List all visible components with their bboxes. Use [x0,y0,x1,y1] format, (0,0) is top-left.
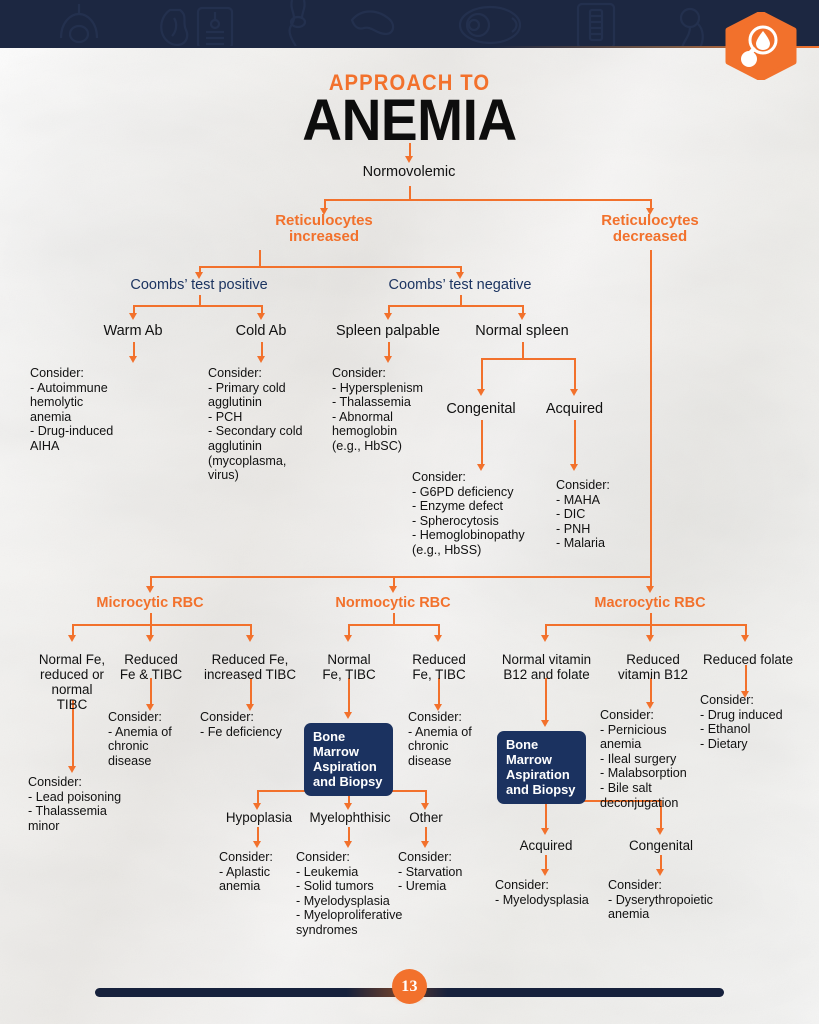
node-coombs-test-negative: Coombs’ test negative [370,277,550,293]
header-bottom-hairline [0,46,819,48]
consider-cold-ab: Consider: - Primary cold agglutinin - PC… [208,366,333,483]
node-hypoplasia: Hypoplasia [213,810,305,826]
node-cold-ab: Cold Ab [201,324,321,340]
kidney-icon [161,10,187,45]
consider-other: Consider: - Starvation - Uremia [398,850,498,894]
node-myelophthisic: Myelophthisic [300,810,400,826]
consider-acquired-marrow: Consider: - Myelodysplasia [495,878,615,907]
header-decor-icons [0,0,819,48]
node-macro-reduced-b12: Reduced vitamin B12 [608,652,698,682]
chest-xray-icon [198,8,232,48]
page-title: ANEMIA [20,92,798,150]
consider-acquired-hemolytic: Consider: - MAHA - DIC - PNH - Malaria [556,478,666,551]
consider-spleen-palpable: Consider: - Hypersplenism - Thalassemia … [332,366,457,454]
node-other: Other [395,810,457,826]
page-number-badge: 13 [392,969,427,1004]
node-macro-reduced-folate: Reduced folate [693,652,803,667]
node-normo-normal-fe-tibc: Normal Fe, TIBC [310,652,388,682]
eye-anatomy-icon [460,7,520,43]
consider-warm-ab: Consider: - Autoimmune hemolytic anemia … [30,366,150,454]
spine-xray-icon [578,4,614,48]
page-header [0,0,819,48]
pancreas-icon [352,12,393,35]
consider-congenital-marrow: Consider: - Dyserythropoietic anemia [608,878,748,922]
node-micro-reduced-fe-tibc: Reduced Fe & TIBC [112,652,190,682]
node-normal-spleen: Normal spleen [457,324,587,340]
node-coombs-test-positive: Coombs’ test positive [109,277,289,293]
uterus-icon [61,4,97,42]
consider-hypoplasia: Consider: - Aplastic anemia [219,850,305,894]
node-warm-ab: Warm Ab [73,324,193,340]
node-normovolemic: Normovolemic [329,165,489,181]
consider-macro-reduced-folate: Consider: - Drug induced - Ethanol - Die… [700,693,815,751]
node-macro-normal-b12-folate: Normal vitamin B12 and folate [489,652,604,682]
consider-congenital-hemolytic: Consider: - G6PD deficiency - Enzyme def… [412,470,577,558]
node-microcytic-rbc: Microcytic RBC [80,595,220,611]
node-acquired-marrow: Acquired [500,838,592,854]
knee-joint-icon [290,0,305,48]
node-macrocytic-rbc: Macrocytic RBC [580,595,720,611]
node-reticulocytes-increased: Reticulocytes increased [254,213,394,245]
node-reticulocytes-decreased: Reticulocytes decreased [580,213,720,245]
bone-marrow-box-normocytic[interactable]: Bone Marrow Aspiration and Biopsy [304,723,393,796]
consider-micro-normal-fe: Consider: - Lead poisoning - Thalassemia… [28,775,158,833]
bone-marrow-box-macrocytic[interactable]: Bone Marrow Aspiration and Biopsy [497,731,586,804]
node-acquired-hemolytic: Acquired [527,402,622,418]
node-congenital-marrow: Congenital [612,838,710,854]
hip-joint-icon [681,9,703,48]
node-micro-reduced-fe-increased-tibc: Reduced Fe, increased TIBC [191,652,309,682]
node-normo-reduced-fe-tibc: Reduced Fe, TIBC [399,652,479,682]
node-normocytic-rbc: Normocytic RBC [323,595,463,611]
node-micro-normal-fe: Normal Fe, reduced or normal TIBC [27,652,117,712]
node-spleen-palpable: Spleen palpable [318,324,458,340]
